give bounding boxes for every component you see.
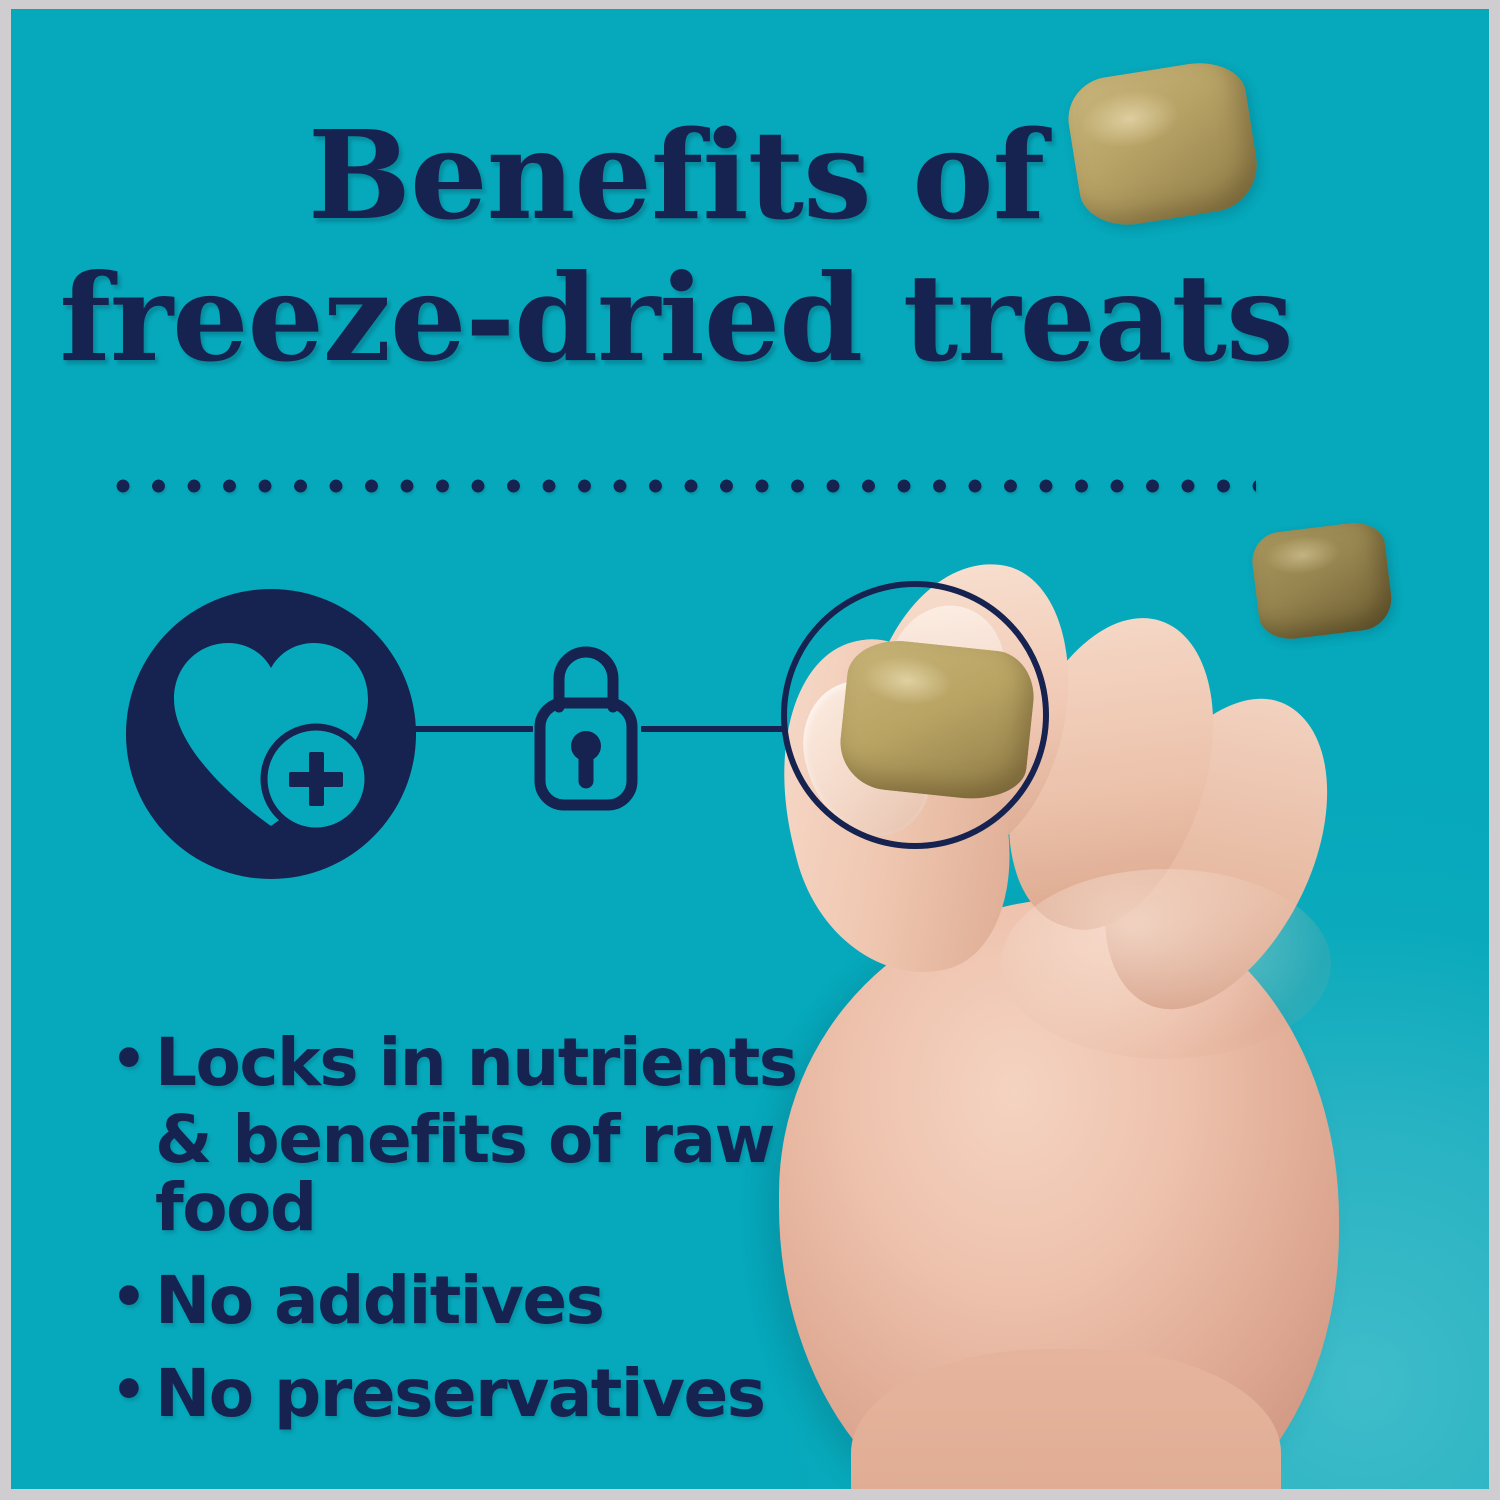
bullet-marker-icon: • bbox=[111, 1029, 133, 1092]
list-item: • Locks in nutrients bbox=[111, 1029, 911, 1096]
list-item: • & benefits of raw food bbox=[111, 1106, 911, 1241]
title-line-2: freeze-dried treats bbox=[11, 248, 1341, 390]
treat-piece-mid-right bbox=[1249, 519, 1395, 643]
list-item: • No additives bbox=[111, 1267, 911, 1334]
list-item-label: Locks in nutrients bbox=[155, 1029, 911, 1096]
teal-canvas: Benefits of freeze-dried treats bbox=[11, 9, 1489, 1489]
treat-piece-in-hand bbox=[836, 636, 1039, 805]
list-item-label: & benefits of raw food bbox=[155, 1106, 911, 1241]
connector-line-2 bbox=[641, 726, 786, 732]
list-item-label: No additives bbox=[155, 1267, 911, 1334]
list-item-label: No preservatives bbox=[155, 1360, 911, 1427]
connector-line-1 bbox=[403, 726, 533, 732]
dotted-divider bbox=[116, 479, 1256, 493]
infographic-panel: Benefits of freeze-dried treats bbox=[0, 0, 1500, 1500]
list-item: • No preservatives bbox=[111, 1360, 911, 1427]
heart-plus-icon[interactable] bbox=[126, 589, 416, 879]
lock-icon[interactable] bbox=[526, 629, 646, 819]
hand-wrist bbox=[851, 1349, 1281, 1489]
bullet-marker-icon: • bbox=[111, 1267, 133, 1330]
process-icon-row bbox=[11, 569, 1111, 899]
benefits-list: • Locks in nutrients • & benefits of raw… bbox=[111, 1029, 911, 1454]
bullet-marker-icon: • bbox=[111, 1360, 133, 1423]
magnifier-circle-icon[interactable] bbox=[781, 581, 1049, 849]
